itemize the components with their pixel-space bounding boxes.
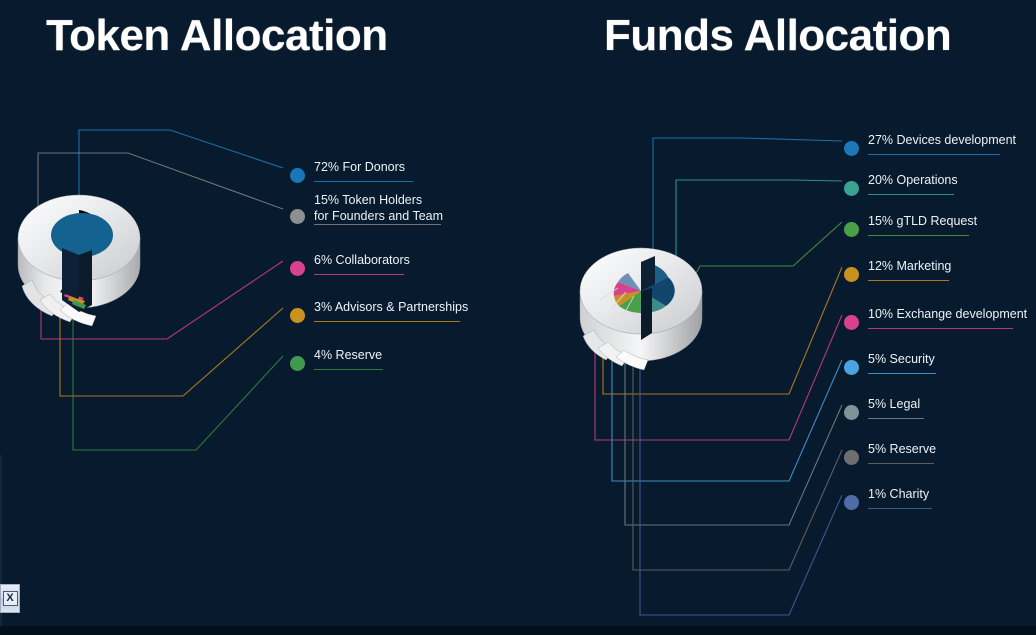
legend-label-collaborators: 6% Collaborators: [314, 252, 410, 268]
legend-rule-security: [868, 373, 936, 374]
legend-dot-advisors-partnerships: [290, 308, 305, 323]
legend-label-reserve-funds: 5% Reserve: [868, 441, 936, 457]
legend-dot-marketing: [844, 267, 859, 282]
bottom-bar: [0, 626, 1036, 635]
legend-rule-marketing: [868, 280, 949, 281]
legend-dot-operations: [844, 181, 859, 196]
legend-label-security: 5% Security: [868, 351, 935, 367]
legend-label-for-donors: 72% For Donors: [314, 159, 405, 175]
close-button[interactable]: X: [0, 584, 20, 613]
legend-label-legal: 5% Legal: [868, 396, 920, 412]
legend-rule-for-donors: [314, 181, 413, 182]
legend-rule-reserve: [314, 369, 383, 370]
pie-chart-funds-allocation: [580, 248, 702, 370]
legend-label-exchange-development: 10% Exchange development: [868, 306, 1027, 322]
legend-rule-collaborators: [314, 274, 404, 275]
legend-dot-exchange-development: [844, 315, 859, 330]
leader-lines-funds-allocation: [595, 138, 842, 615]
legend-label-marketing: 12% Marketing: [868, 258, 951, 274]
slide-canvas: Token Allocation Funds Allocation: [0, 0, 1036, 635]
legend-dot-legal: [844, 405, 859, 420]
legend-rule-token-holders: [314, 224, 441, 225]
legend-label-gtld-request: 15% gTLD Request: [868, 213, 977, 229]
legend-rule-advisors-partnerships: [314, 321, 460, 322]
legend-rule-reserve-funds: [868, 463, 934, 464]
legend-rule-devices-development: [868, 154, 1000, 155]
legend-label-token-holders-line2: for Founders and Team: [314, 209, 443, 223]
legend-label-devices-development: 27% Devices development: [868, 132, 1016, 148]
legend-dot-reserve: [290, 356, 305, 371]
legend-rule-gtld-request: [868, 235, 969, 236]
legend-dot-token-holders: [290, 209, 305, 224]
close-icon: X: [3, 591, 18, 606]
legend-dot-charity: [844, 495, 859, 510]
legend-rule-charity: [868, 508, 932, 509]
legend-dot-reserve-funds: [844, 450, 859, 465]
legend-label-operations: 20% Operations: [868, 172, 958, 188]
legend-label-token-holders-line1: 15% Token Holders: [314, 193, 422, 207]
legend-dot-devices-development: [844, 141, 859, 156]
pie-chart-token-allocation: [18, 195, 140, 326]
legend-dot-security: [844, 360, 859, 375]
legend-dot-collaborators: [290, 261, 305, 276]
legend-label-token-holders: 15% Token Holdersfor Founders and Team: [314, 192, 443, 224]
legend-rule-legal: [868, 418, 924, 419]
legend-dot-for-donors: [290, 168, 305, 183]
legend-label-reserve: 4% Reserve: [314, 347, 382, 363]
legend-label-charity: 1% Charity: [868, 486, 929, 502]
legend-rule-operations: [868, 194, 954, 195]
legend-dot-gtld-request: [844, 222, 859, 237]
legend-label-advisors-partnerships: 3% Advisors & Partnerships: [314, 299, 468, 315]
legend-rule-exchange-development: [868, 328, 1013, 329]
